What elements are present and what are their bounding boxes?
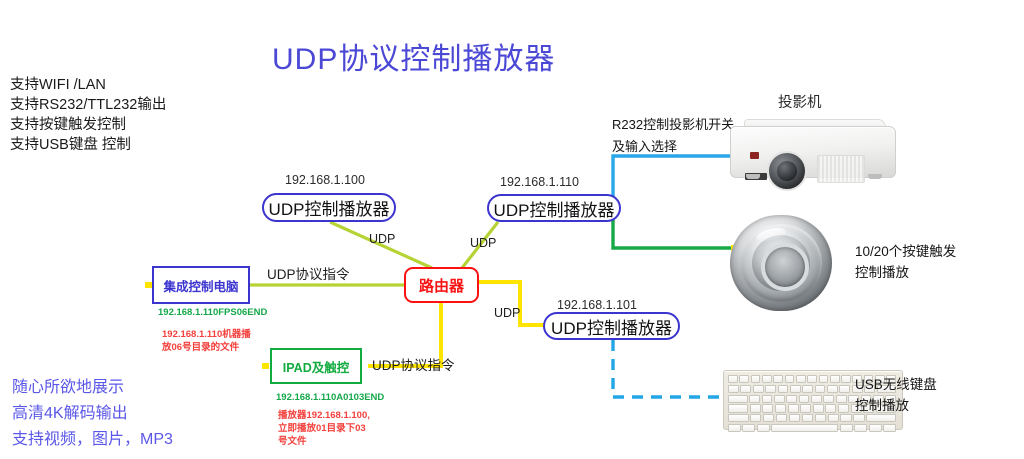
push-button-note-line: 10/20个按键触发 (855, 241, 956, 262)
wire-stub-pc-left (145, 282, 152, 288)
edge-label-udp-bottom: UDP (494, 306, 520, 320)
projector-icon (722, 112, 902, 180)
wire-player-mid-to-button (613, 216, 735, 248)
node-label: UDP控制播放器 (494, 196, 615, 221)
keyboard-note: USB无线键盘 控制播放 (855, 374, 937, 416)
pc-command-green: 192.168.1.110FPS06END (158, 307, 267, 318)
node-udp-player-mid[interactable]: UDP控制播放器 (487, 194, 621, 222)
edge-label-ipad-to-router: UDP协议指令 (372, 354, 455, 374)
push-button-icon (730, 215, 832, 311)
projector-note: R232控制投影机开关 及输入选择 (612, 114, 734, 158)
diagram-canvas: UDP协议控制播放器 支持WIFI /LAN 支持RS232/TTL232输出 … (0, 0, 1024, 459)
feature-item: 支持RS232/TTL232输出 (10, 95, 166, 115)
ipad-command-red-line: 立即播放01目录下03 (278, 422, 370, 435)
wire-player-mid-to-projector (613, 156, 735, 200)
node-label: 集成控制电脑 (163, 276, 238, 295)
player-top-ip-label: 192.168.1.100 (285, 173, 365, 187)
node-ipad-touch[interactable]: IPAD及触控 (270, 348, 362, 384)
ipad-command-red-line: 号文件 (278, 435, 370, 448)
projector-title: 投影机 (778, 91, 822, 112)
node-udp-player-top[interactable]: UDP控制播放器 (262, 193, 396, 222)
page-title: UDP协议控制播放器 (272, 34, 555, 78)
node-label: 路由器 (419, 275, 464, 296)
node-router[interactable]: 路由器 (404, 267, 479, 303)
wire-player-bottom-to-keyboard (613, 340, 730, 397)
feature-item: 支持USB键盘 控制 (10, 135, 166, 155)
node-control-pc[interactable]: 集成控制电脑 (152, 266, 250, 304)
wire-stub-ipad-left (262, 363, 269, 369)
tagline-item: 随心所欲地展示 (12, 375, 173, 401)
keyboard-note-line: USB无线键盘 (855, 374, 937, 395)
tagline-item: 支持视频，图片，MP3 (12, 427, 173, 453)
tagline-item: 高清4K解码输出 (12, 401, 173, 427)
feature-list: 支持WIFI /LAN 支持RS232/TTL232输出 支持按键触发控制 支持… (10, 75, 166, 155)
ipad-command-red-line: 播放器192.168.1.100, (278, 409, 370, 422)
tagline-list: 随心所欲地展示 高清4K解码输出 支持视频，图片，MP3 (12, 375, 173, 453)
pc-command-red-line: 192.168.1.110机器播 (162, 328, 251, 341)
ipad-command-green: 192.168.1.110A0103END (276, 392, 384, 403)
ipad-command-red: 播放器192.168.1.100, 立即播放01目录下03 号文件 (278, 409, 370, 448)
projector-note-line: R232控制投影机开关 (612, 114, 734, 136)
node-label: IPAD及触控 (283, 357, 349, 376)
feature-item: 支持WIFI /LAN (10, 75, 166, 95)
edge-label-pc-to-router: UDP协议指令 (267, 263, 350, 283)
player-mid-ip-label: 192.168.1.110 (500, 175, 579, 189)
pc-command-red-line: 放06号目录的文件 (162, 341, 251, 354)
player-bottom-ip-label: 192.168.1.101 (557, 298, 637, 312)
push-button-note: 10/20个按键触发 控制播放 (855, 241, 956, 283)
feature-item: 支持按键触发控制 (10, 115, 166, 135)
projector-note-line: 及输入选择 (612, 136, 734, 158)
node-udp-player-bottom[interactable]: UDP控制播放器 (543, 312, 680, 340)
pc-command-red: 192.168.1.110机器播 放06号目录的文件 (162, 328, 251, 354)
push-button-note-line: 控制播放 (855, 262, 956, 283)
node-label: UDP控制播放器 (551, 314, 672, 339)
keyboard-note-line: 控制播放 (855, 395, 937, 416)
node-label: UDP控制播放器 (269, 195, 390, 220)
edge-label-udp-top: UDP (369, 232, 395, 246)
edge-label-udp-mid: UDP (470, 236, 496, 250)
